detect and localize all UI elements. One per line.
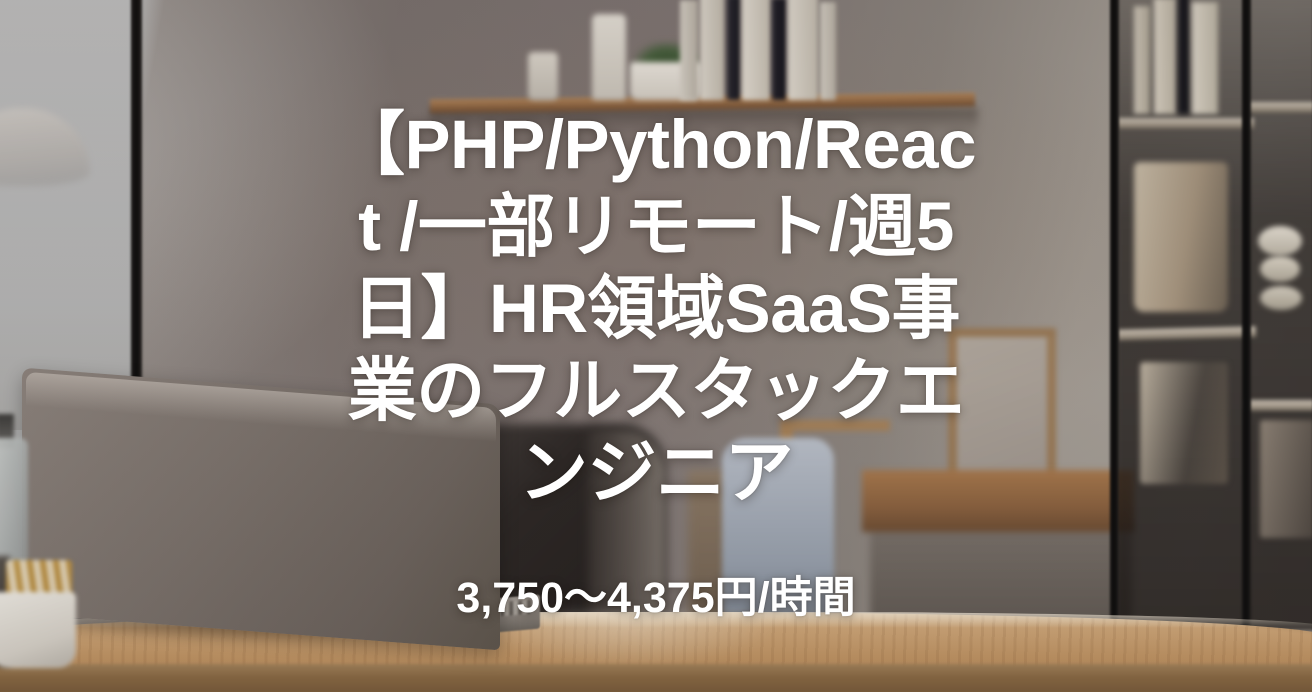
job-posting-banner: 【PHP/Python/React /一部リモート/週5日】HR領域SaaS事業… <box>0 0 1312 692</box>
text-overlay: 【PHP/Python/React /一部リモート/週5日】HR領域SaaS事業… <box>0 0 1312 692</box>
page-title: 【PHP/Python/React /一部リモート/週5日】HR領域SaaS事業… <box>336 104 976 515</box>
hourly-rate: 3,750〜4,375円/時間 <box>456 563 855 625</box>
